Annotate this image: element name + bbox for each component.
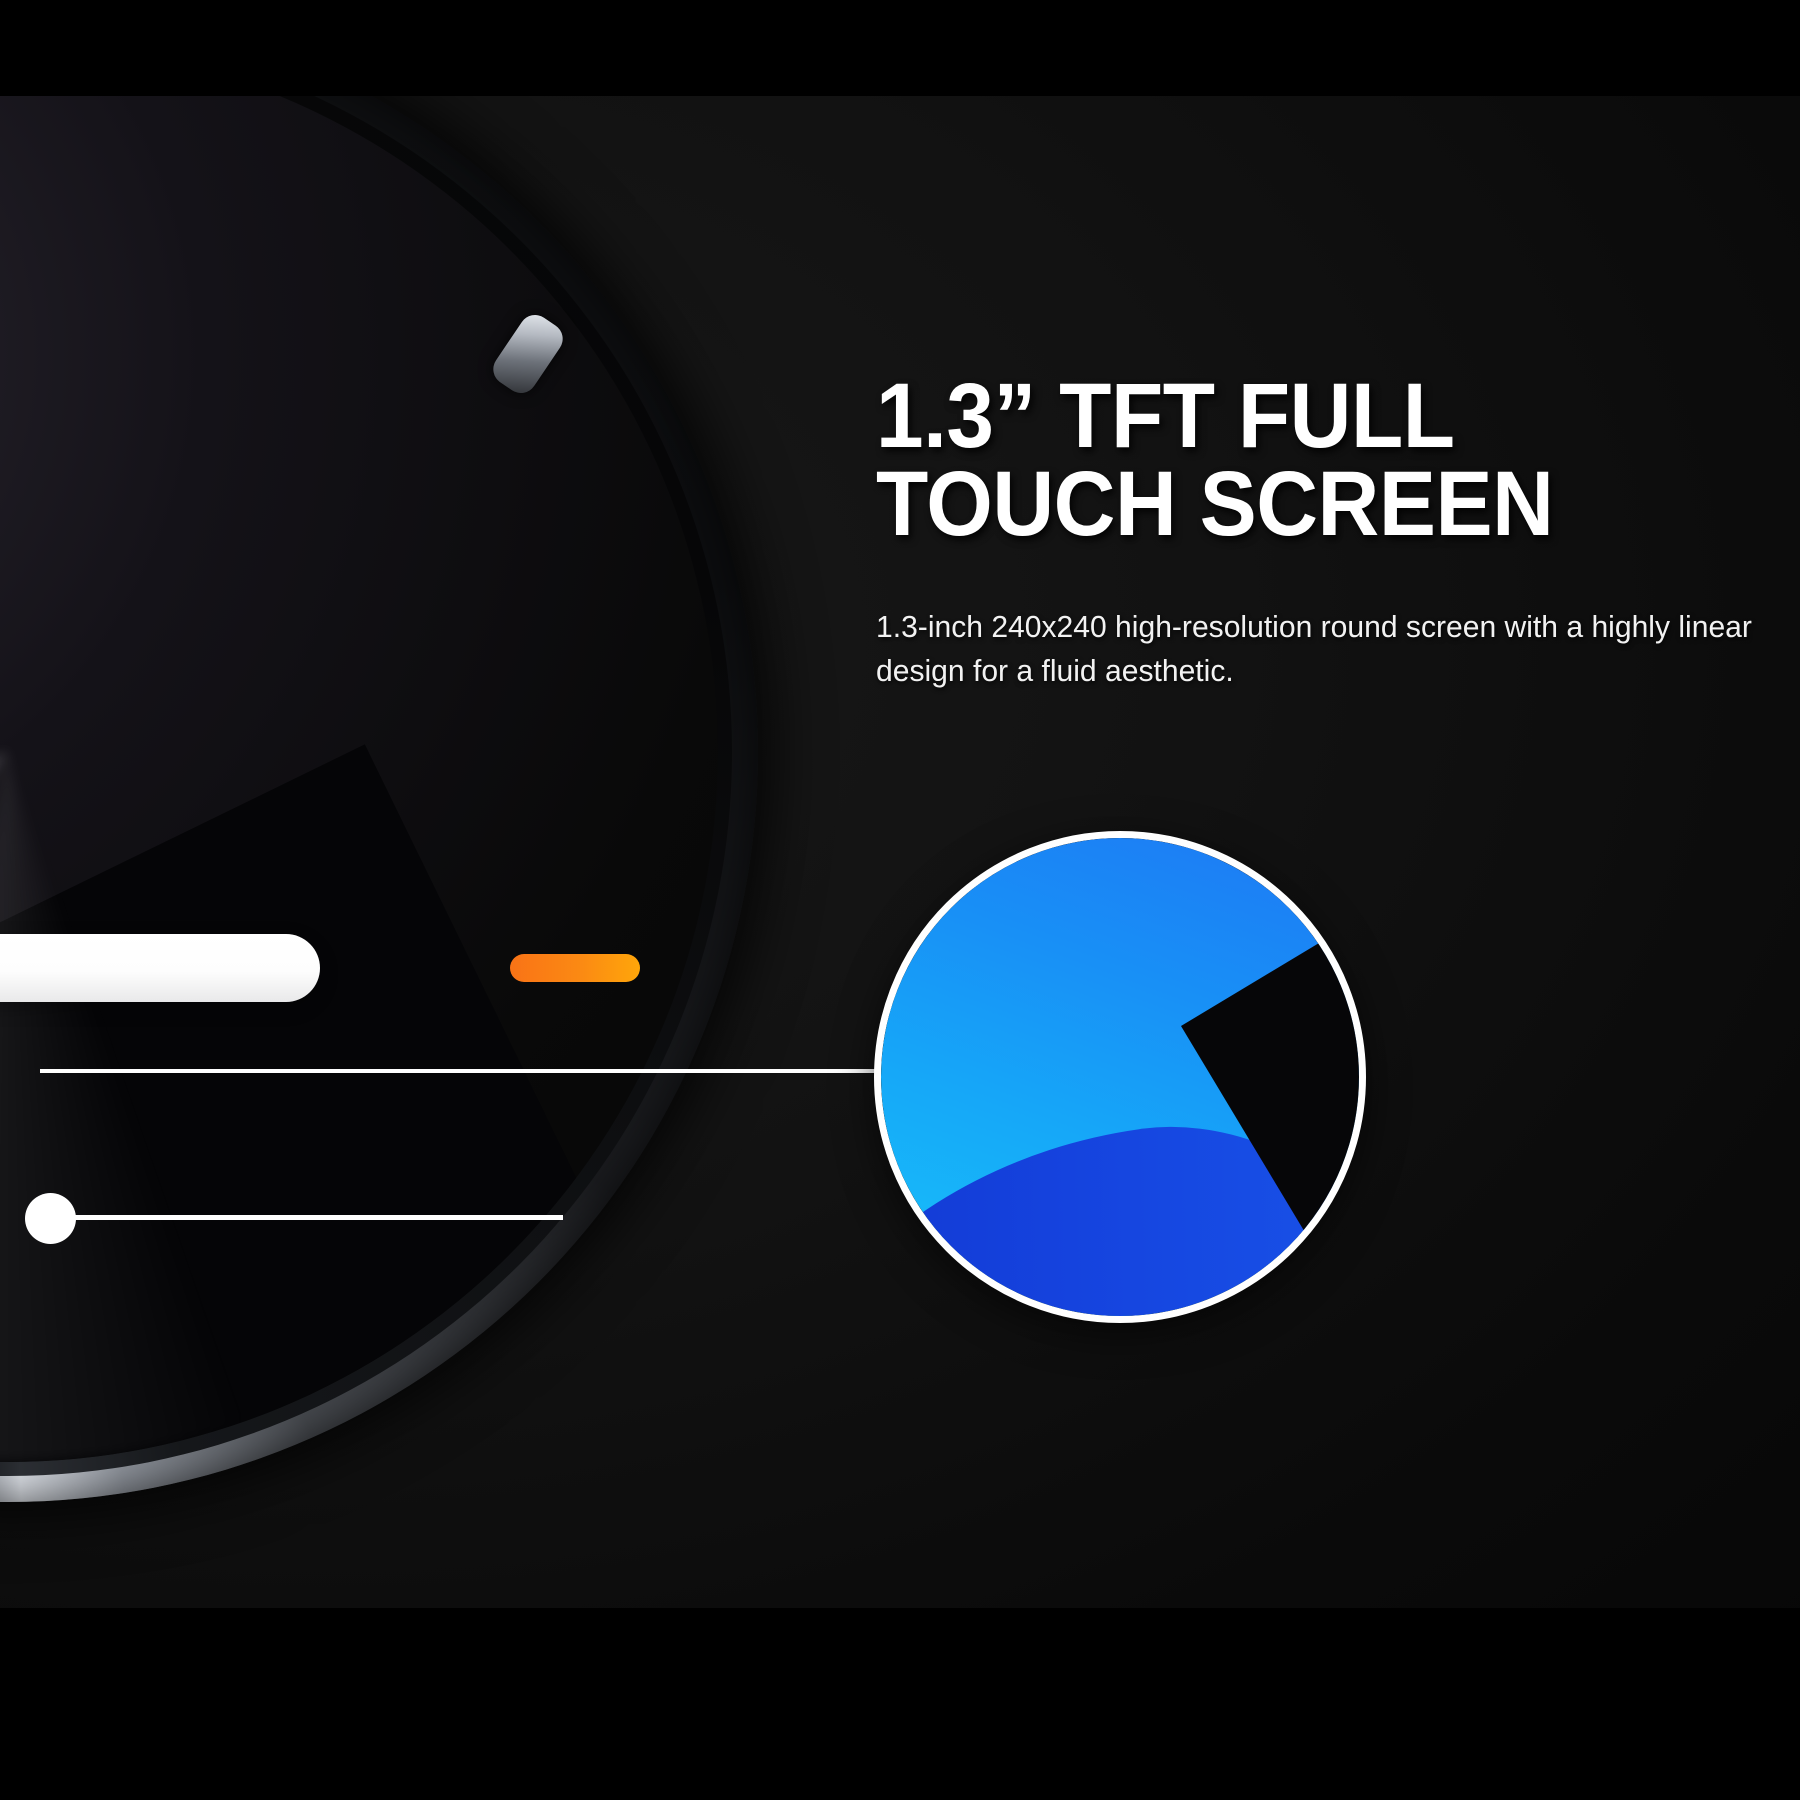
watch-face-progress-fill — [510, 954, 640, 982]
smartwatch-product-image — [0, 96, 758, 1502]
letterbox-bottom — [0, 1608, 1800, 1800]
callout-leader-stub — [63, 1215, 563, 1220]
screen-zoom-callout — [874, 831, 1366, 1323]
page-title: 1.3” TFT FULL TOUCH SCREEN — [876, 372, 1760, 549]
letterbox-top — [0, 0, 1800, 96]
marketing-copy-block: 1.3” TFT FULL TOUCH SCREEN 1.3-inch 240x… — [876, 372, 1800, 693]
screen-zoom-fill — [881, 838, 1359, 1316]
callout-anchor-dot — [25, 1193, 76, 1244]
watch-glass — [0, 96, 718, 1462]
product-banner: 1.3” TFT FULL TOUCH SCREEN 1.3-inch 240x… — [0, 0, 1800, 1800]
product-description: 1.3-inch 240x240 high-resolution round s… — [876, 605, 1754, 693]
callout-leader-line — [40, 1069, 950, 1073]
watch-face-progress-pill — [0, 934, 320, 1002]
content-band: 1.3” TFT FULL TOUCH SCREEN 1.3-inch 240x… — [0, 96, 1800, 1608]
